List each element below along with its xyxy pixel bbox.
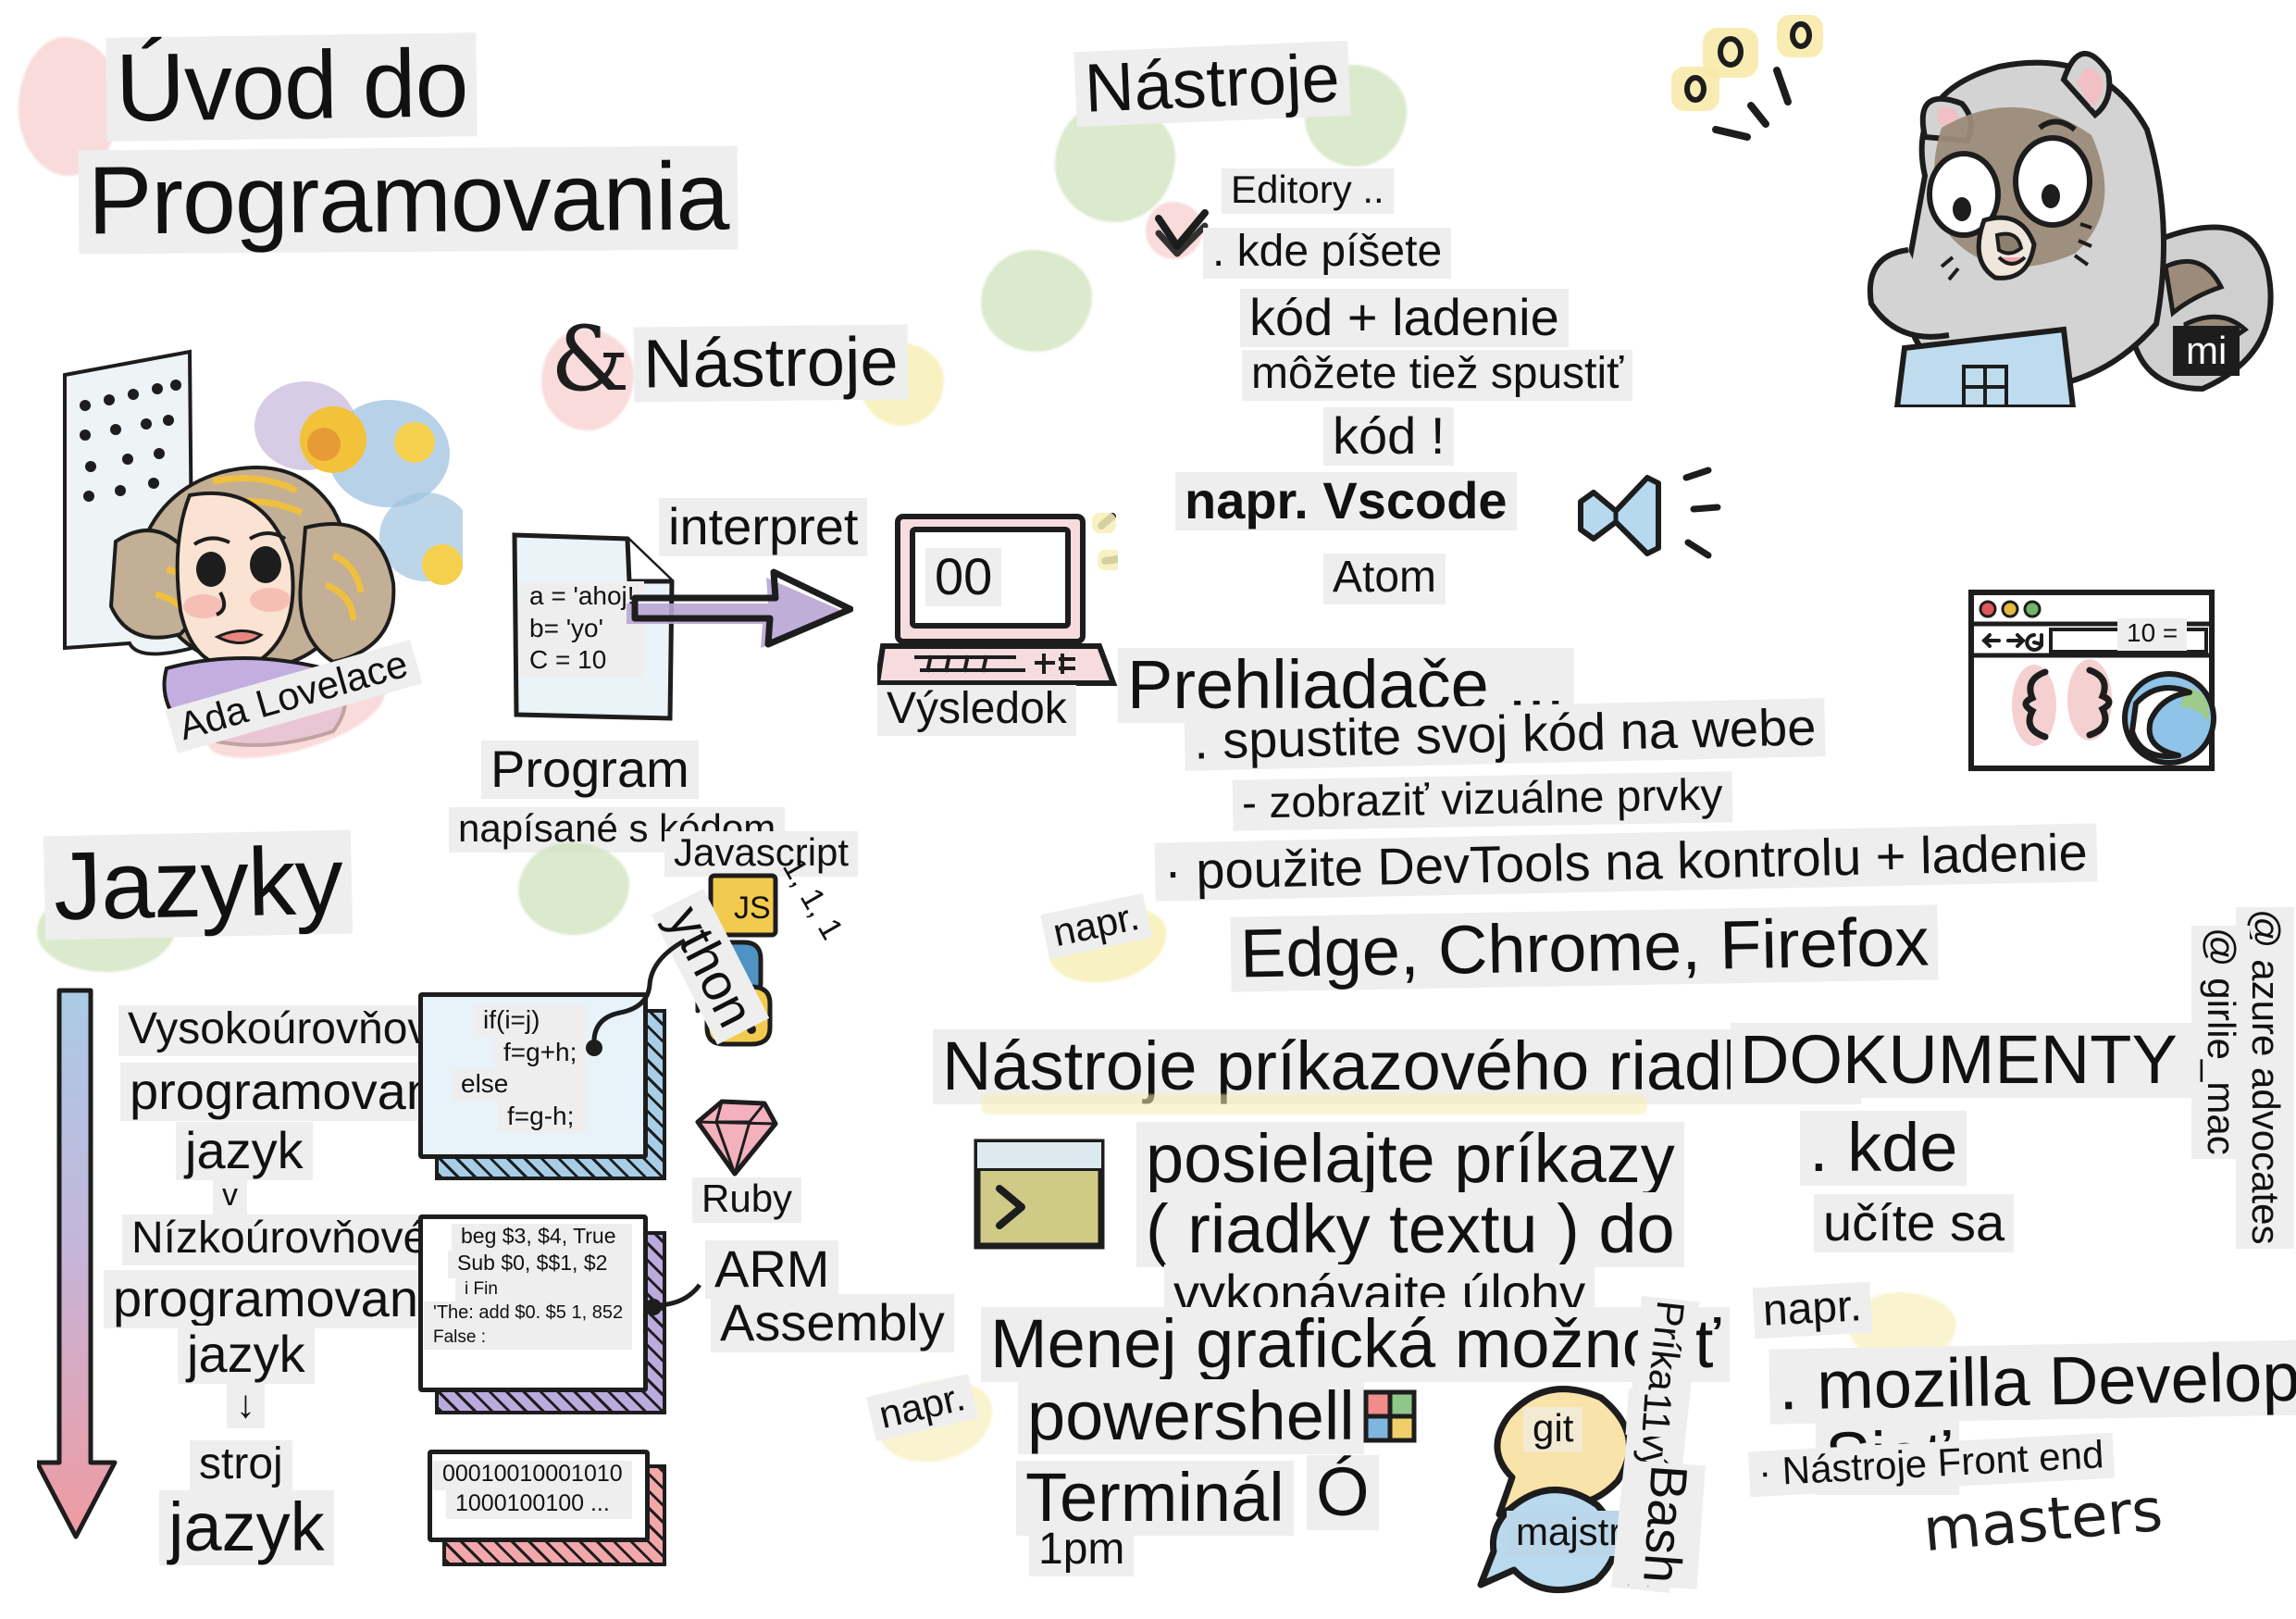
cli-item-0: posielajte príkazy	[1136, 1122, 1684, 1197]
cli-heading-underblob	[981, 1094, 1647, 1115]
high-code-lines: if(i=j) f=g+h; else f=g-h;	[450, 1005, 586, 1133]
cli-vertical-2: Bash	[1626, 1461, 1706, 1589]
result-laptop-icon	[877, 507, 1118, 706]
high-code-line-0: if(i=j)	[474, 1005, 586, 1038]
windows-logo-icon	[1359, 1385, 1423, 1450]
ladder-item-9: jazyk	[159, 1490, 334, 1565]
ampersand-icon: &	[551, 315, 629, 404]
docs-heading-label: DOKUMENTY ...	[1731, 1023, 2262, 1098]
docs-item-0-text: . mozilla Developer	[1769, 1339, 2296, 1425]
binary-code-lines: 00010010001010 1000100100 ...	[433, 1461, 632, 1519]
tools-item-mozete-spustit: môžete tiež spustiť	[1242, 350, 1632, 401]
binary-code-line-1: 1000100100 ...	[446, 1490, 632, 1520]
tools-item-kod-ladenie: kód + ladenie	[1240, 289, 1569, 347]
ladder-item-8: stroj	[190, 1440, 292, 1491]
cli-example-1pm: 1pm	[1029, 1526, 1134, 1576]
tools-item-3: môžete tiež spustiť	[1242, 350, 1632, 401]
browsers-item-1: - zobraziť vizuálne prvky	[1233, 771, 1732, 830]
raccoon-badge-text: mi	[2186, 329, 2227, 372]
cli-vertical-1: 11	[1626, 1389, 1687, 1438]
docs-kde: . kde	[1800, 1111, 1967, 1186]
browsers-examples-text: Edge, Chrome, Firefox	[1230, 904, 1939, 992]
tools-item-4: kód !	[1323, 407, 1454, 466]
result-label-text: Výsledok	[877, 685, 1076, 736]
browsers-examples: Edge, Chrome, Firefox	[1230, 904, 1939, 992]
ladder-item-0: Vysokoúrovňové	[118, 1005, 464, 1056]
ladder-item-8-text: stroj	[190, 1440, 292, 1491]
ladder-item-4-text: Nízkoúrovňové	[122, 1214, 437, 1265]
vscode-sparkle-icon	[1677, 463, 1732, 565]
terminal-icon	[964, 1127, 1112, 1257]
tools-item-kde-pisete: . kde píšete	[1203, 228, 1451, 279]
page-title-line2-text: Programovania	[79, 146, 738, 255]
browser-window-badge-text: 10 =	[2117, 618, 2187, 651]
ladder-item-3-text: v	[213, 1177, 247, 1215]
cli-example-2: Ó	[1307, 1455, 1379, 1530]
cli-example-3: 1pm	[1029, 1526, 1134, 1576]
ladder-item-3: v	[213, 1177, 247, 1215]
tools-heading-label: Nástroje	[1074, 41, 1350, 128]
ladder-item-2: jazyk	[176, 1122, 313, 1180]
raccoon-badge: mi	[2173, 326, 2240, 376]
cli-vertical-11: 11	[1626, 1389, 1687, 1438]
docs-ucite: učíte sa	[1814, 1194, 2014, 1252]
ladder-item-7-text: ↓	[227, 1383, 265, 1428]
result-label: Výsledok	[877, 685, 1076, 736]
tools-tag-topleft: Nástroje	[634, 324, 908, 403]
tools-item-vscode: napr. Vscode	[1175, 472, 1517, 530]
tools-item-kod: kód !	[1323, 407, 1454, 466]
tools-item-2: kód + ladenie	[1240, 289, 1569, 347]
cli-example-0: powershell	[1018, 1379, 1364, 1454]
tools-item-0: Editory ..	[1222, 168, 1394, 214]
ampersand-glyph: &	[551, 307, 629, 411]
language-connectors	[583, 907, 814, 1426]
docs-heading: DOKUMENTY ...	[1731, 1023, 2262, 1098]
interpret-label: interpret	[659, 498, 867, 556]
tools-heading: Nástroje	[1074, 41, 1350, 128]
languages-heading: Jazyky	[43, 830, 353, 940]
browser-window-badge: 10 =	[2117, 618, 2187, 651]
git-bubble-label: git	[1523, 1407, 1582, 1452]
ladder-item-9-text: jazyk	[159, 1490, 334, 1565]
ladder-item-6-text: jazyk	[178, 1326, 315, 1384]
tools-item-1: . kde píšete	[1203, 228, 1451, 279]
interpret-arrow-icon	[622, 563, 853, 665]
cli-item-1-text: ( riadky textu ) do	[1136, 1192, 1684, 1267]
cli-vertical-bash: Bash	[1626, 1461, 1706, 1589]
docs-napr: napr.	[1753, 1282, 1872, 1339]
binary-code-line-0: 00010010001010	[433, 1461, 632, 1490]
sketchnote-canvas: Úvod do Programovania & Nástroje	[0, 0, 2296, 1619]
high-code-line-1: f=g+h;	[494, 1038, 586, 1070]
tools-tag-topleft-label: Nástroje	[634, 324, 908, 403]
laptop-screen-output: 00	[925, 548, 1001, 606]
docs-kde-text: . kde	[1800, 1111, 1967, 1186]
tools-item-atom: Atom	[1323, 554, 1446, 604]
page-title-line2: Programovania	[79, 146, 738, 255]
ladder-item-5-text: programovanie	[104, 1270, 468, 1328]
credit-girlie-mac: @ girlie_mac	[2191, 926, 2250, 1159]
browsers-item-0: . spustite svoj kód na webe	[1184, 698, 1826, 771]
browsers-item-2: · použite DevTools na kontrolu + ladenie	[1154, 823, 2097, 901]
docs-ucite-text: učíte sa	[1814, 1194, 2014, 1252]
interpret-arrow-label: interpret	[659, 498, 867, 556]
ladder-item-0-text: Vysokoúrovňové	[118, 1005, 464, 1056]
laptop-screen-text: 00	[925, 548, 1001, 606]
high-code-line-2: else	[452, 1069, 586, 1102]
languages-heading-label: Jazyky	[43, 830, 353, 940]
browsers-item-1-text: - zobraziť vizuálne prvky	[1233, 771, 1732, 830]
ladder-item-6: jazyk	[178, 1326, 315, 1384]
ladder-item-4: Nízkoúrovňové	[122, 1214, 437, 1265]
git-bubble-text: git	[1523, 1407, 1582, 1452]
tools-item-editory: Editory ..	[1222, 168, 1394, 214]
cli-example-powershell: powershell	[1018, 1379, 1364, 1454]
program-label-text: Program	[481, 741, 699, 799]
page-title-line1-text: Úvod do	[105, 32, 478, 142]
ladder-item-5: programovanie	[104, 1270, 468, 1328]
docs-item-0: . mozilla Developer	[1769, 1339, 2296, 1425]
browser-window-illustration	[1960, 583, 2238, 796]
docs-napr-text: napr.	[1753, 1282, 1872, 1339]
cli-item-1: ( riadky textu ) do	[1136, 1192, 1684, 1267]
ladder-item-2-text: jazyk	[176, 1122, 313, 1180]
page-title-line1: Úvod do	[105, 32, 478, 142]
credit-line-2: @ girlie_mac	[2191, 926, 2250, 1159]
program-label: Program	[481, 741, 699, 799]
vscode-icon	[1564, 463, 1675, 565]
cli-item-0-text: posielajte príkazy	[1136, 1122, 1684, 1197]
tools-item-6: Atom	[1323, 554, 1446, 604]
ladder-item-7: ↓	[227, 1383, 265, 1428]
high-code-line-3: f=g-h;	[498, 1102, 586, 1134]
cli-example-o: Ó	[1307, 1455, 1379, 1530]
tools-item-5: napr. Vscode	[1175, 472, 1517, 530]
browsers-item-0-text: . spustite svoj kód na webe	[1184, 698, 1826, 771]
title-green-blob	[981, 250, 1092, 352]
browsers-item-2-text: · použite DevTools na kontrolu + ladenie	[1154, 823, 2097, 901]
